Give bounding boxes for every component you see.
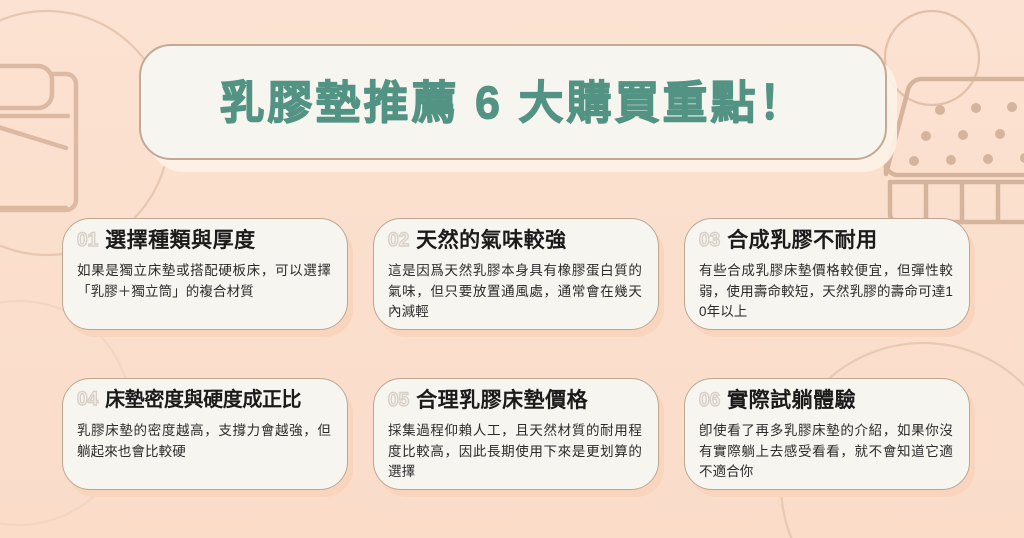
tip-card-03[interactable]: 03 合成乳膠不耐用 有些合成乳膠床墊價格較便宜，但彈性較弱，使用壽命較短，天然… — [684, 218, 970, 330]
card-number: 03 — [699, 231, 720, 250]
card-description: 卽使看了再多乳膠床墊的介紹，如果你沒有實際躺上去感受看看，就不會知道它適不適合你 — [699, 421, 953, 483]
card-title: 實際試躺體驗 — [727, 390, 856, 412]
banner-frame: 乳膠墊推薦 6 大購買重點！ — [139, 44, 887, 160]
card-number: 05 — [388, 391, 409, 410]
card-header: 04 床墊密度與硬度成正比 — [77, 390, 331, 417]
bed-outline-icon — [0, 30, 158, 230]
card-body: 06 實際試躺體驗 卽使看了再多乳膠床墊的介紹，如果你沒有實際躺上去感受看看，就… — [684, 378, 970, 490]
card-description: 這是因爲天然乳膠本身具有橡膠蛋白質的氣味，但只要放置通風處，通常會在幾天內減輕 — [388, 261, 642, 323]
card-header: 05 合理乳膠床墊價格 — [388, 390, 642, 417]
card-header: 06 實際試躺體驗 — [699, 390, 953, 417]
card-header: 02 天然的氣味較強 — [388, 230, 642, 257]
card-body: 05 合理乳膠床墊價格 採集過程仰賴人工，且天然材質的耐用程度比較高，因此長期使… — [373, 378, 659, 490]
card-title: 天然的氣味較強 — [416, 230, 567, 252]
title-banner: 乳膠墊推薦 6 大購買重點！ — [139, 44, 887, 160]
card-number: 02 — [388, 231, 409, 250]
card-title: 合成乳膠不耐用 — [727, 230, 878, 252]
card-title: 選擇種類與厚度 — [105, 230, 256, 252]
card-body: 04 床墊密度與硬度成正比 乳膠床墊的密度越高，支撐力會越強，但躺起來也會比較硬 — [62, 378, 348, 490]
card-description: 採集過程仰賴人工，且天然材質的耐用程度比較高，因此長期使用下來是更划算的選擇 — [388, 421, 642, 483]
tip-card-02[interactable]: 02 天然的氣味較強 這是因爲天然乳膠本身具有橡膠蛋白質的氣味，但只要放置通風處… — [373, 218, 659, 330]
card-number: 06 — [699, 391, 720, 410]
card-header: 03 合成乳膠不耐用 — [699, 230, 953, 257]
card-title: 床墊密度與硬度成正比 — [105, 390, 301, 411]
tip-card-05[interactable]: 05 合理乳膠床墊價格 採集過程仰賴人工，且天然材質的耐用程度比較高，因此長期使… — [373, 378, 659, 490]
infographic-canvas: 乳膠墊推薦 6 大購買重點！ 01 選擇種類與厚度 如果是獨立床墊或搭配硬板床，… — [0, 0, 1024, 538]
circle-outline-icon — [882, 8, 982, 108]
tips-grid: 01 選擇種類與厚度 如果是獨立床墊或搭配硬板床，可以選擇「乳膠＋獨立筒」的複合… — [62, 218, 970, 490]
card-description: 乳膠床墊的密度越高，支撐力會越強，但躺起來也會比較硬 — [77, 421, 331, 462]
card-description: 如果是獨立床墊或搭配硬板床，可以選擇「乳膠＋獨立筒」的複合材質 — [77, 261, 331, 302]
card-number: 01 — [77, 231, 98, 250]
card-body: 02 天然的氣味較強 這是因爲天然乳膠本身具有橡膠蛋白質的氣味，但只要放置通風處… — [373, 218, 659, 330]
card-description: 有些合成乳膠床墊價格較便宜，但彈性較弱，使用壽命較短，天然乳膠的壽命可達10年以… — [699, 261, 953, 323]
tip-card-04[interactable]: 04 床墊密度與硬度成正比 乳膠床墊的密度越高，支撐力會越強，但躺起來也會比較硬 — [62, 378, 348, 490]
card-body: 01 選擇種類與厚度 如果是獨立床墊或搭配硬板床，可以選擇「乳膠＋獨立筒」的複合… — [62, 218, 348, 330]
tip-card-01[interactable]: 01 選擇種類與厚度 如果是獨立床墊或搭配硬板床，可以選擇「乳膠＋獨立筒」的複合… — [62, 218, 348, 330]
card-number: 04 — [77, 390, 98, 409]
card-title: 合理乳膠床墊價格 — [416, 390, 588, 412]
page-title: 乳膠墊推薦 6 大購買重點！ — [219, 80, 806, 125]
tip-card-06[interactable]: 06 實際試躺體驗 卽使看了再多乳膠床墊的介紹，如果你沒有實際躺上去感受看看，就… — [684, 378, 970, 490]
card-header: 01 選擇種類與厚度 — [77, 230, 331, 257]
card-body: 03 合成乳膠不耐用 有些合成乳膠床墊價格較便宜，但彈性較弱，使用壽命較短，天然… — [684, 218, 970, 330]
